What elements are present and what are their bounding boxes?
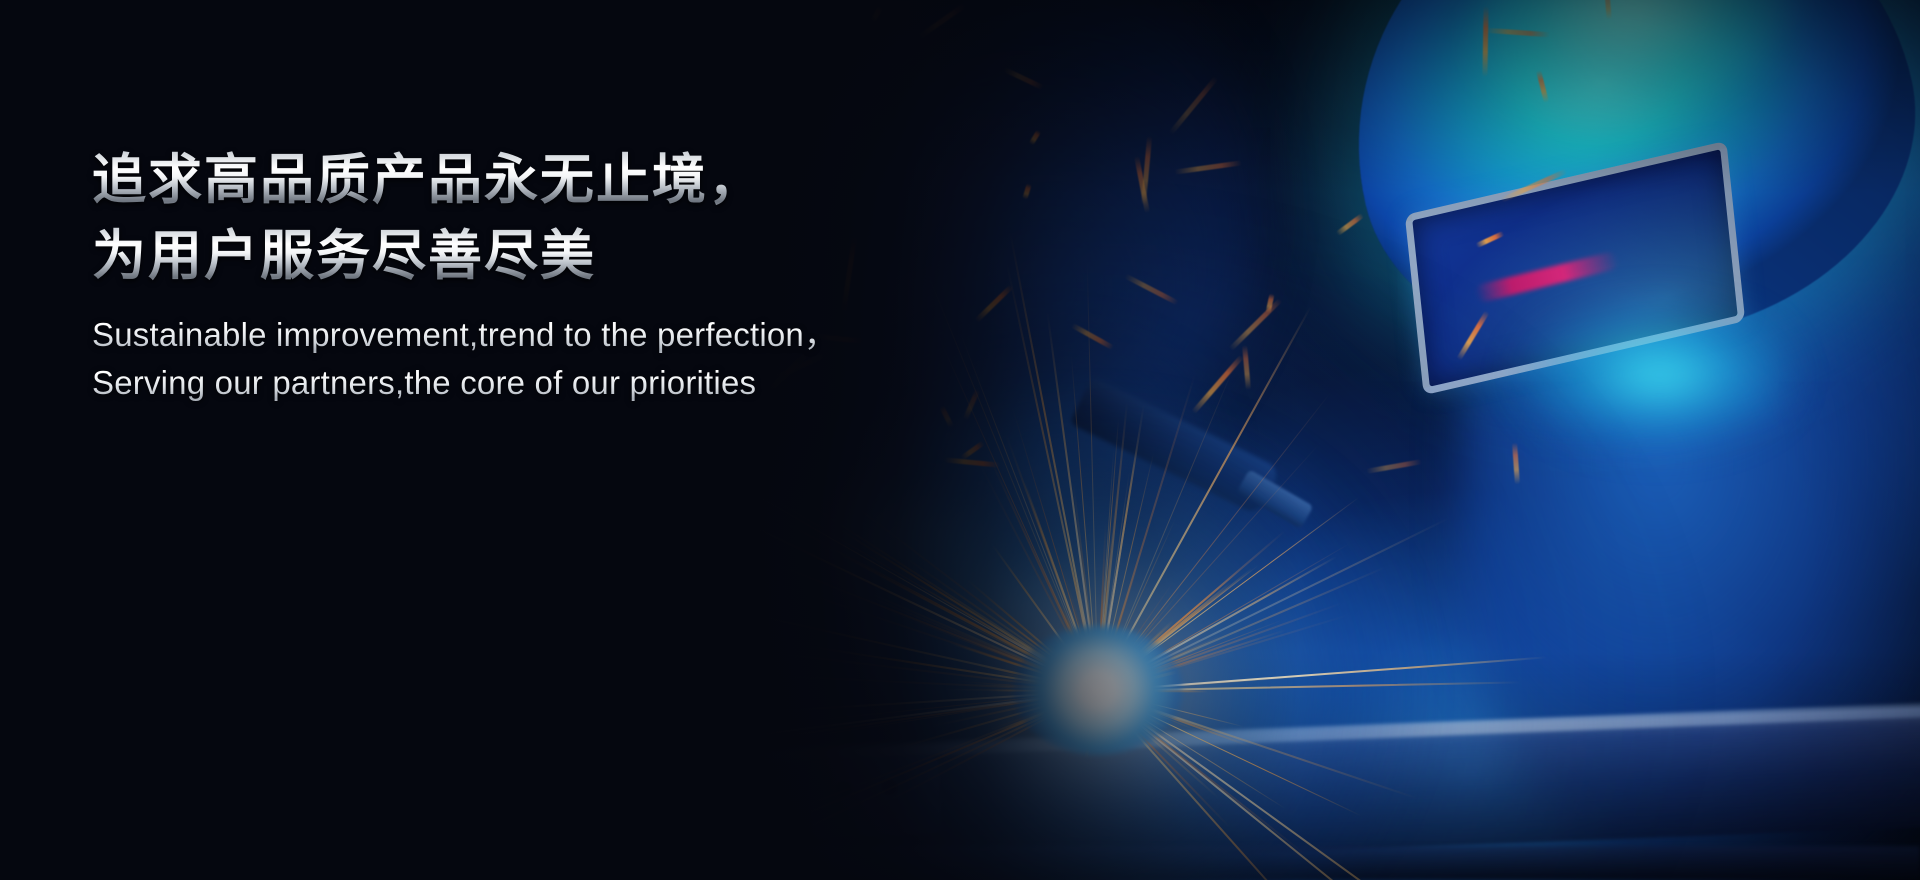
photo-left-fade <box>740 0 1300 880</box>
subtitle-line-2: Serving our partners,the core of our pri… <box>92 360 992 406</box>
headline-line-1: 追求高品质产品永无止境， <box>92 142 992 218</box>
banner-copy: 追求高品质产品永无止境， 为用户服务尽善尽美 Sustainable impro… <box>92 142 992 406</box>
hero-banner: 追求高品质产品永无止境， 为用户服务尽善尽美 Sustainable impro… <box>0 0 1920 880</box>
headline-line-2: 为用户服务尽善尽美 <box>92 218 992 294</box>
welding-photo <box>740 0 1920 880</box>
subtitle-line-1: Sustainable improvement,trend to the per… <box>92 312 992 358</box>
